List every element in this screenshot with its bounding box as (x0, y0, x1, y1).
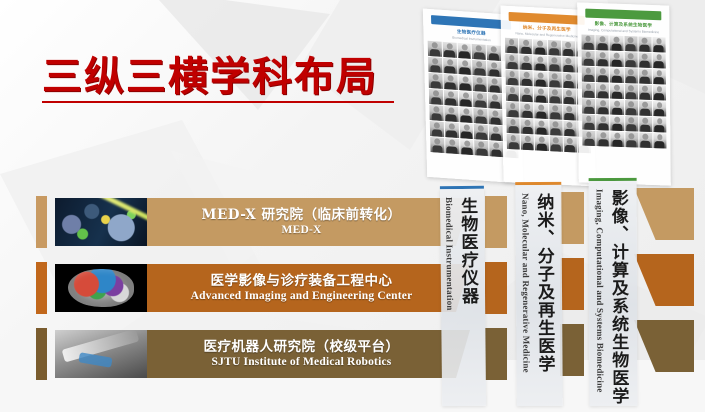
portrait-photo (520, 71, 533, 87)
portrait-photo (624, 36, 637, 51)
portrait-photo (489, 125, 503, 141)
portrait-photo (563, 121, 576, 137)
portrait-photo (582, 51, 595, 66)
portrait-photo (639, 85, 652, 100)
portrait-photo (610, 36, 623, 51)
row-label-en: Advanced Imaging and Engineering Center (191, 290, 413, 304)
portrait-photo (475, 140, 489, 156)
portrait-photo (519, 54, 532, 70)
slide-canvas: 三纵三横学科布局 生物医疗仪器 Biomedical Instrumentati… (0, 0, 705, 412)
portrait-photo (534, 71, 547, 87)
portrait-photo (581, 35, 594, 50)
portrait-photo (582, 115, 595, 130)
portrait-photo (624, 68, 637, 83)
portrait-photo (459, 91, 473, 107)
discipline-column-biomedical-instrumentation[interactable]: Biomedical Instrumentation 生物医疗仪器 (440, 186, 486, 398)
portrait-photo (506, 102, 519, 118)
portrait-photo (653, 133, 666, 148)
portrait-photo (489, 141, 503, 157)
portrait-photo (582, 99, 595, 114)
portrait-photo (488, 93, 502, 109)
page-title: 三纵三横学科布局 (42, 56, 394, 103)
row-accent-block (36, 328, 47, 380)
portrait-photo (489, 109, 503, 125)
portrait-photo (535, 135, 548, 151)
portrait-photo (472, 44, 486, 60)
column-label-en: Nano, Molecular and Regenerative Medicin… (520, 193, 531, 373)
portrait-photo (596, 35, 609, 50)
portrait-photo (639, 117, 652, 132)
portrait-photo (506, 70, 519, 86)
portrait-grid (577, 31, 670, 152)
discipline-column-nano-molecular[interactable]: Nano, Molecular and Regenerative Medicin… (515, 182, 563, 398)
portrait-photo (459, 123, 473, 139)
panel-header-bar (585, 9, 661, 21)
column-bar-wedge (634, 188, 694, 240)
portrait-photo (610, 68, 623, 83)
portrait-photo (506, 118, 519, 134)
column-bar-wedge (485, 328, 507, 380)
panel-header-bar (509, 12, 585, 25)
portrait-photo (443, 58, 457, 74)
portrait-photo (473, 60, 487, 76)
portrait-photo (624, 52, 637, 67)
portrait-photo (507, 134, 520, 150)
portrait-photo (562, 41, 575, 57)
portrait-photo (521, 119, 534, 135)
portrait-photo (474, 124, 488, 140)
portrait-photo (638, 69, 651, 84)
portrait-photo (596, 67, 609, 82)
portrait-photo (460, 139, 474, 155)
column-label-en: Biomedical Instrumentation (444, 197, 455, 311)
portrait-photo (639, 133, 652, 148)
column-plate: Biomedical Instrumentation 生物医疗仪器 (440, 188, 486, 405)
portrait-photo (563, 105, 576, 121)
portrait-photo (505, 38, 518, 54)
row-label-cn: MED-X 研究院（临床前转化） (202, 207, 402, 224)
portrait-photo (445, 138, 459, 154)
column-plate: Nano, Molecular and Regenerative Medicin… (515, 184, 563, 405)
row-label-cn: 医疗机器人研究院（校级平台） (204, 339, 400, 356)
portrait-photo (596, 99, 609, 114)
portrait-photo (625, 116, 638, 131)
portrait-photo (474, 108, 488, 124)
portrait-photo (534, 55, 547, 71)
portrait-photo (653, 117, 666, 132)
portrait-photo (429, 105, 443, 121)
portrait-photo (653, 85, 666, 100)
column-bar-wedge (560, 324, 584, 376)
column-label-cn: 影像、计算及系统生物医学 (606, 188, 632, 404)
row-accent-block (36, 262, 47, 314)
portrait-photo (534, 103, 547, 119)
portrait-photo (596, 83, 609, 98)
portrait-photo (444, 90, 458, 106)
portrait-photo (430, 137, 444, 153)
title-underline (42, 101, 394, 103)
column-plate: Imaging, Computational and Systems Biome… (589, 180, 638, 405)
row-thumbnail-cell-biology (55, 198, 147, 246)
portrait-photo (505, 54, 518, 70)
portrait-photo (596, 51, 609, 66)
portrait-photo (443, 74, 457, 90)
portrait-photo (428, 41, 442, 57)
portrait-photo (506, 86, 519, 102)
portrait-photo (533, 39, 546, 55)
portrait-photo (638, 52, 651, 67)
row-label-bar: MED-X 研究院（临床前转化） MED-X (147, 198, 456, 246)
portrait-photo (548, 72, 561, 88)
portrait-photo (611, 132, 624, 147)
portrait-photo (652, 37, 665, 52)
portrait-photo (457, 43, 471, 59)
portrait-photo (549, 104, 562, 120)
portrait-photo (445, 122, 459, 138)
portrait-photo (535, 119, 548, 135)
column-bar-wedge (634, 254, 694, 306)
portrait-photo (582, 131, 595, 146)
portrait-photo (473, 92, 487, 108)
portrait-photo (428, 57, 442, 73)
portrait-photo (653, 69, 666, 84)
row-thumbnail-surgical-robot (55, 330, 147, 378)
portrait-photo (430, 121, 444, 137)
portrait-photo (582, 83, 595, 98)
portrait-photo (549, 120, 562, 136)
portrait-photo (521, 135, 534, 151)
portrait-photo (520, 103, 533, 119)
portrait-photo (625, 100, 638, 115)
portrait-photo (611, 116, 624, 131)
portrait-photo (548, 88, 561, 104)
portrait-photo (458, 59, 472, 75)
portrait-photo (610, 84, 623, 99)
portrait-photo (428, 73, 442, 89)
column-bar-wedge (485, 262, 507, 314)
row-thumbnail-brain-mri (55, 264, 147, 312)
portrait-photo (458, 75, 472, 91)
portrait-photo (549, 136, 562, 152)
portrait-photo (534, 87, 547, 103)
portrait-photo (562, 57, 575, 73)
portrait-photo (487, 61, 501, 77)
portrait-photo (652, 53, 665, 68)
column-label-en: Imaging, Computational and Systems Biome… (595, 189, 606, 393)
row-label-cn: 医学影像与诊疗装备工程中心 (211, 273, 393, 290)
column-bar-wedge (560, 258, 584, 310)
portrait-photo (429, 89, 443, 105)
row-label-bar: 医疗机器人研究院（校级平台） SJTU Institute of Medical… (147, 330, 456, 378)
portrait-photo (653, 101, 666, 116)
portrait-photo (442, 42, 456, 58)
portrait-photo (582, 67, 595, 82)
column-bar-wedge (634, 320, 694, 372)
photo-panel-imaging-computational: 影像、计算及系统生物医学 Imaging, Computational and … (577, 2, 671, 185)
row-label-en: SJTU Institute of Medical Robotics (212, 356, 392, 370)
row-label-en: MED-X (282, 224, 322, 238)
portrait-photo (639, 101, 652, 116)
portrait-photo (596, 131, 609, 146)
portrait-photo (488, 77, 502, 93)
discipline-column-imaging-computational[interactable]: Imaging, Computational and Systems Biome… (589, 178, 638, 398)
portrait-photo (520, 87, 533, 103)
portrait-photo (563, 137, 576, 153)
portrait-photo (548, 40, 561, 56)
page-title-text: 三纵三横学科布局 (42, 56, 394, 98)
portrait-photo (444, 106, 458, 122)
portrait-photo (563, 89, 576, 105)
portrait-photo (548, 56, 561, 72)
column-label-cn: 纳米、分子及再生医学 (531, 192, 557, 372)
column-bar-wedge (485, 196, 507, 248)
portrait-photo (562, 73, 575, 89)
portrait-photo (624, 84, 637, 99)
row-accent-block (36, 196, 47, 248)
column-bar-wedge (560, 192, 584, 244)
portrait-photo (487, 45, 501, 61)
column-label-cn: 生物医疗仪器 (455, 196, 481, 304)
portrait-photo (638, 36, 651, 51)
portrait-photo (610, 100, 623, 115)
portrait-photo (473, 76, 487, 92)
portrait-photo (519, 38, 532, 54)
row-label-bar: 医学影像与诊疗装备工程中心 Advanced Imaging and Engin… (147, 264, 456, 312)
portrait-photo (596, 115, 609, 130)
portrait-photo (610, 52, 623, 67)
portrait-photo (625, 132, 638, 147)
portrait-photo (459, 107, 473, 123)
